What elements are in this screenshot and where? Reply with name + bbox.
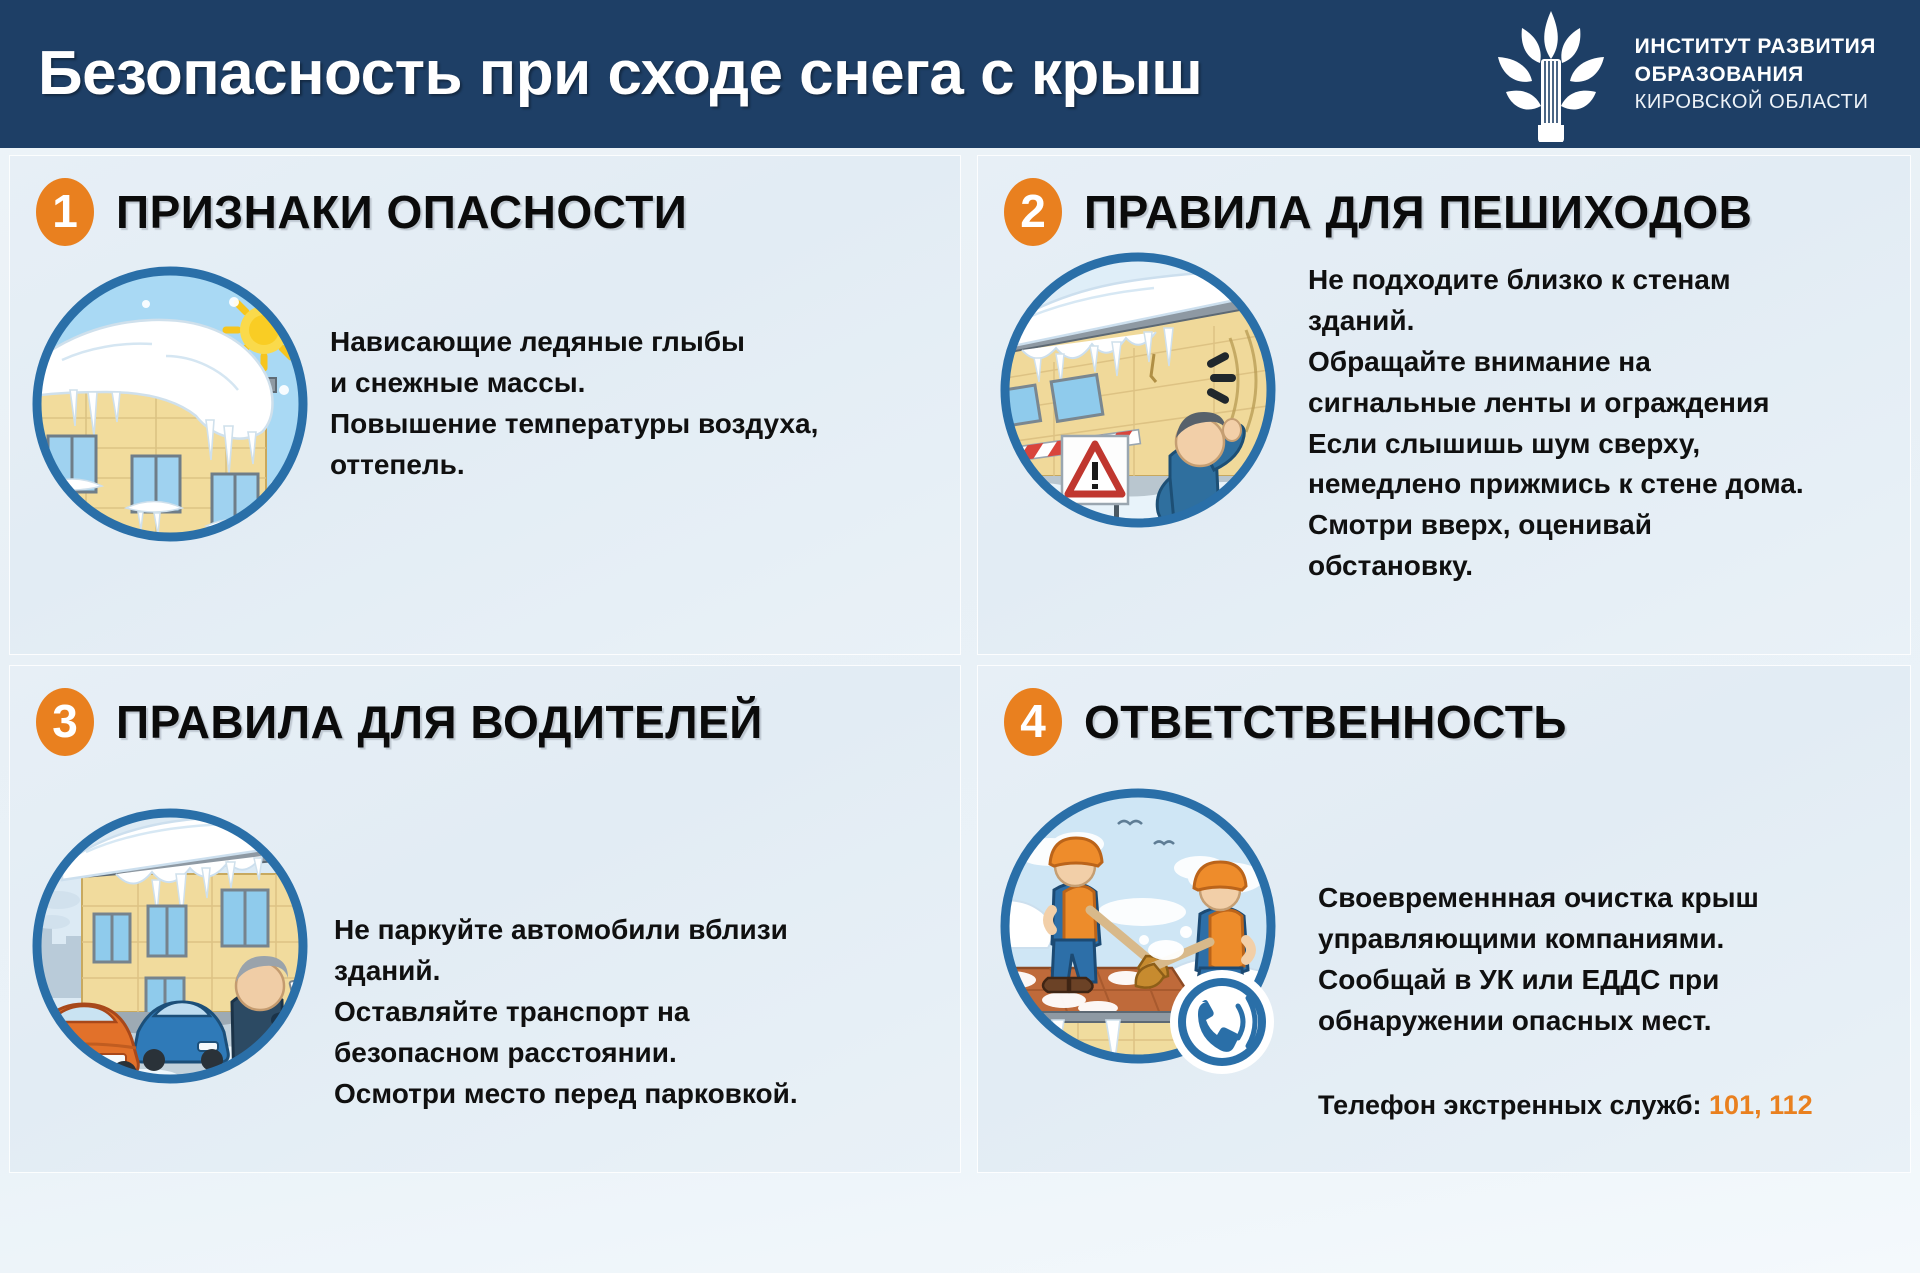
panel-2-line-4: сигнальные ленты и ограждения xyxy=(1308,383,1910,424)
panel-responsibility: 4 ОТВЕТСТВЕННОСТЬ xyxy=(978,666,1910,1172)
panel-2-line-6: немедлено прижмись к стене дома. xyxy=(1308,464,1910,505)
parked-cars-near-building-illustration-icon xyxy=(26,802,314,1090)
panel-signs-of-danger: 1 ПРИЗНАКИ ОПАСНОСТИ xyxy=(10,156,960,654)
emergency-phone-label: Телефон экстренных служб: xyxy=(1318,1090,1709,1120)
panel-1-line-1: Нависающие ледяные глыбы xyxy=(330,322,960,363)
page-header: Безопасность при сходе снега с крыш xyxy=(0,0,1920,148)
panel-3-line-3: Оставляйте транспорт на xyxy=(334,992,960,1033)
institute-tree-logo-icon xyxy=(1489,7,1613,142)
institute-logo: ИНСТИТУТ РАЗВИТИЯ ОБРАЗОВАНИЯ КИРОВСКОЙ … xyxy=(1489,7,1886,142)
panel-4-line-2: управляющими компаниями. xyxy=(1318,919,1910,960)
panel-3-body: Не паркуйте автомобили вблизи зданий. Ос… xyxy=(10,756,960,1114)
panel-3-line-2: зданий. xyxy=(334,951,960,992)
panel-3-illustration xyxy=(10,802,314,1090)
snowy-roof-icicles-sun-illustration-icon xyxy=(26,260,314,548)
panel-1-title: ПРИЗНАКИ ОПАСНОСТИ xyxy=(116,185,687,239)
panel-grid: 1 ПРИЗНАКИ ОПАСНОСТИ xyxy=(0,148,1920,1180)
panel-2-line-8: обстановку. xyxy=(1308,546,1910,587)
panel-3-header: 3 ПРАВИЛА ДЛЯ ВОДИТЕЛЕЙ xyxy=(10,666,960,756)
panel-2-title: ПРАВИЛА ДЛЯ ПЕШИХОДОВ xyxy=(1084,185,1752,239)
panel-1-header: 1 ПРИЗНАКИ ОПАСНОСТИ xyxy=(10,156,960,246)
panel-1-line-4: оттепель. xyxy=(330,445,960,486)
logo-line-2: ОБРАЗОВАНИЯ xyxy=(1635,61,1876,89)
panel-1-body: Нависающие ледяные глыбы и снежные массы… xyxy=(10,246,960,548)
panel-3-line-4: безопасном расстоянии. xyxy=(334,1033,960,1074)
panel-1-text: Нависающие ледяные глыбы и снежные массы… xyxy=(314,260,960,486)
panel-rules-for-pedestrians: 2 ПРАВИЛА ДЛЯ ПЕШИХОДОВ xyxy=(978,156,1910,654)
panel-3-line-1: Не паркуйте автомобили вблизи xyxy=(334,910,960,951)
panel-2-line-3: Обращайте внимание на xyxy=(1308,342,1910,383)
phone-call-icon xyxy=(1170,970,1274,1074)
panel-3-text: Не паркуйте автомобили вблизи зданий. Ос… xyxy=(314,802,960,1114)
panel-4-title: ОТВЕТСТВЕННОСТЬ xyxy=(1084,695,1567,749)
pedestrian-listening-warning-sign-illustration-icon xyxy=(994,246,1282,534)
panel-4-illustration xyxy=(978,782,1294,1082)
logo-line-3: КИРОВСКОЙ ОБЛАСТИ xyxy=(1635,89,1876,115)
panel-4-text: Своевременнная очистка крыш управляющими… xyxy=(1294,782,1910,1125)
panel-4-body: Своевременнная очистка крыш управляющими… xyxy=(978,756,1910,1125)
panel-2-header: 2 ПРАВИЛА ДЛЯ ПЕШИХОДОВ xyxy=(978,156,1910,246)
panel-4-line-3: Сообщай в УК или ЕДДС при xyxy=(1318,960,1910,1001)
panel-4-line-4: обнаружении опасных мест. xyxy=(1318,1001,1910,1042)
panel-2-body: Не подходите близко к стенам зданий. Обр… xyxy=(978,246,1910,587)
panel-2-line-7: Смотри вверх, оценивай xyxy=(1308,505,1910,546)
logo-line-1: ИНСТИТУТ РАЗВИТИЯ xyxy=(1635,33,1876,61)
panel-2-number-badge: 2 xyxy=(1004,178,1062,246)
panel-2-line-2: зданий. xyxy=(1308,301,1910,342)
panel-rules-for-drivers: 3 ПРАВИЛА ДЛЯ ВОДИТЕЛЕЙ xyxy=(10,666,960,1172)
panel-1-illustration xyxy=(10,260,314,548)
emergency-phone-numbers: 101, 112 xyxy=(1709,1090,1813,1120)
panel-2-line-1: Не подходите близко к стенам xyxy=(1308,260,1910,301)
panel-4-header: 4 ОТВЕТСТВЕННОСТЬ xyxy=(978,666,1910,756)
panel-3-number-badge: 3 xyxy=(36,688,94,756)
panel-4-number-badge: 4 xyxy=(1004,688,1062,756)
panel-4-line-1: Своевременнная очистка крыш xyxy=(1318,878,1910,919)
panel-2-line-5: Если слышишь шум сверху, xyxy=(1308,424,1910,465)
roof-workers-clearing-snow-illustration-icon xyxy=(994,782,1294,1082)
emergency-phone-line: Телефон экстренных служб: 101, 112 xyxy=(1318,1086,1910,1125)
page-title: Безопасность при сходе снега с крыш xyxy=(38,43,1202,105)
panel-2-text: Не подходите близко к стенам зданий. Обр… xyxy=(1282,246,1910,587)
panel-1-number-badge: 1 xyxy=(36,178,94,246)
panel-3-title: ПРАВИЛА ДЛЯ ВОДИТЕЛЕЙ xyxy=(116,695,763,749)
panel-1-line-3: Повышение температуры воздуха, xyxy=(330,404,960,445)
panel-2-illustration xyxy=(978,246,1282,534)
panel-1-line-2: и снежные массы. xyxy=(330,363,960,404)
panel-3-line-5: Осмотри место перед парковкой. xyxy=(334,1074,960,1115)
